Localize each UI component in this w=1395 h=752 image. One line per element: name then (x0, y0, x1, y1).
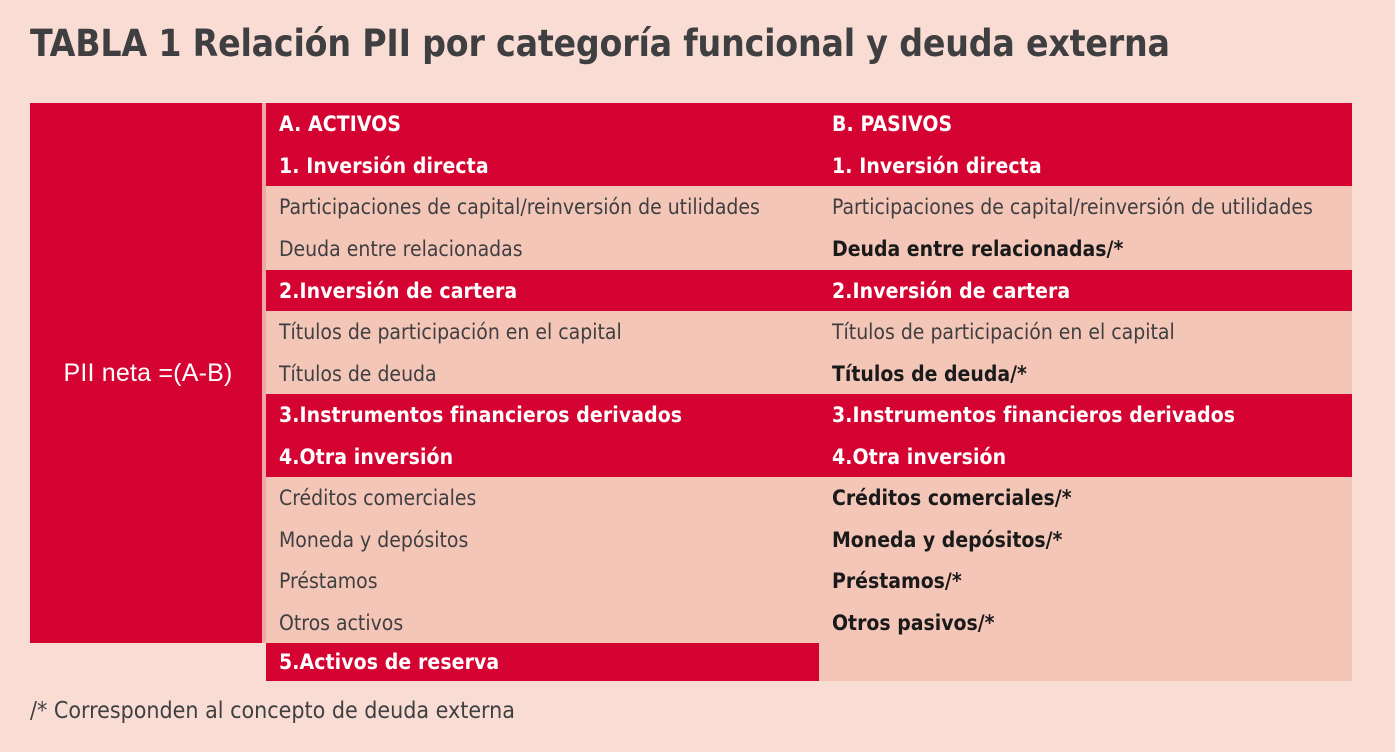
table-footnote: /* Corresponden al concepto de deuda ext… (30, 698, 515, 724)
activos-section-4-items: Créditos comerciales Moneda y depósitos … (266, 477, 819, 643)
column-a-header: A. ACTIVOS (266, 103, 819, 145)
pasivos-section-4-heading: 4.Otra inversión (819, 436, 1352, 477)
pasivos-header-band: B. PASIVOS 1. Inversión directa (819, 103, 1352, 186)
list-item: Títulos de deuda/* (819, 353, 1352, 394)
list-item: Moneda y depósitos (266, 519, 819, 560)
list-item: Préstamos (266, 560, 819, 602)
activos-section-1-heading: 1. Inversión directa (266, 145, 819, 186)
list-item: Créditos comerciales (266, 477, 819, 519)
pasivos-section-3-4-heading-band: 3.Instrumentos financieros derivados 4.O… (819, 394, 1352, 477)
pasivos-section-1-heading: 1. Inversión directa (819, 145, 1352, 186)
activos-section-3-heading: 3.Instrumentos financieros derivados (266, 394, 819, 436)
list-item: Otros pasivos/* (819, 602, 1352, 643)
list-item: Títulos de deuda (266, 353, 819, 394)
activos-section-3-4-heading-band: 3.Instrumentos financieros derivados 4.O… (266, 394, 819, 477)
activos-section-2-items: Títulos de participación en el capital T… (266, 311, 819, 394)
list-item: Deuda entre relacionadas (266, 228, 819, 270)
activos-section-4-heading: 4.Otra inversión (266, 436, 819, 477)
list-item: Deuda entre relacionadas/* (819, 228, 1352, 270)
pasivos-section-3-heading: 3.Instrumentos financieros derivados (819, 394, 1352, 436)
pii-table: PII neta =(A-B) A. ACTIVOS 1. Inversión … (30, 103, 1352, 681)
table-page: TABLA 1 Relación PII por categoría funci… (0, 0, 1395, 752)
list-item: Participaciones de capital/reinversión d… (819, 186, 1352, 228)
pasivos-section-2-heading: 2.Inversión de cartera (819, 270, 1352, 311)
pasivos-section-4-items: Créditos comerciales/* Moneda y depósito… (819, 477, 1352, 681)
activos-header-band: A. ACTIVOS 1. Inversión directa (266, 103, 819, 186)
page-title: TABLA 1 Relación PII por categoría funci… (30, 22, 1360, 65)
activos-section-2-heading: 2.Inversión de cartera (266, 270, 819, 311)
activos-section-2-heading-band: 2.Inversión de cartera (266, 270, 819, 311)
list-item: Otros activos (266, 602, 819, 643)
list-item: Títulos de participación en el capital (266, 311, 819, 353)
activos-section-5-heading: 5.Activos de reserva (266, 643, 819, 681)
list-item: Préstamos/* (819, 560, 1352, 602)
pasivos-section-1-items: Participaciones de capital/reinversión d… (819, 186, 1352, 270)
activos-section-5-heading-band: 5.Activos de reserva (266, 643, 819, 681)
pasivos-section-2-items: Títulos de participación en el capital T… (819, 311, 1352, 394)
column-b-header: B. PASIVOS (819, 103, 1352, 145)
pasivos-section-2-heading-band: 2.Inversión de cartera (819, 270, 1352, 311)
list-item: Créditos comerciales/* (819, 477, 1352, 519)
list-item: Moneda y depósitos/* (819, 519, 1352, 560)
list-item: Títulos de participación en el capital (819, 311, 1352, 353)
list-item: Participaciones de capital/reinversión d… (266, 186, 819, 228)
pii-neta-label: PII neta =(A-B) (30, 103, 266, 643)
pii-neta-cell: PII neta =(A-B) (30, 103, 266, 643)
activos-section-1-items: Participaciones de capital/reinversión d… (266, 186, 819, 270)
